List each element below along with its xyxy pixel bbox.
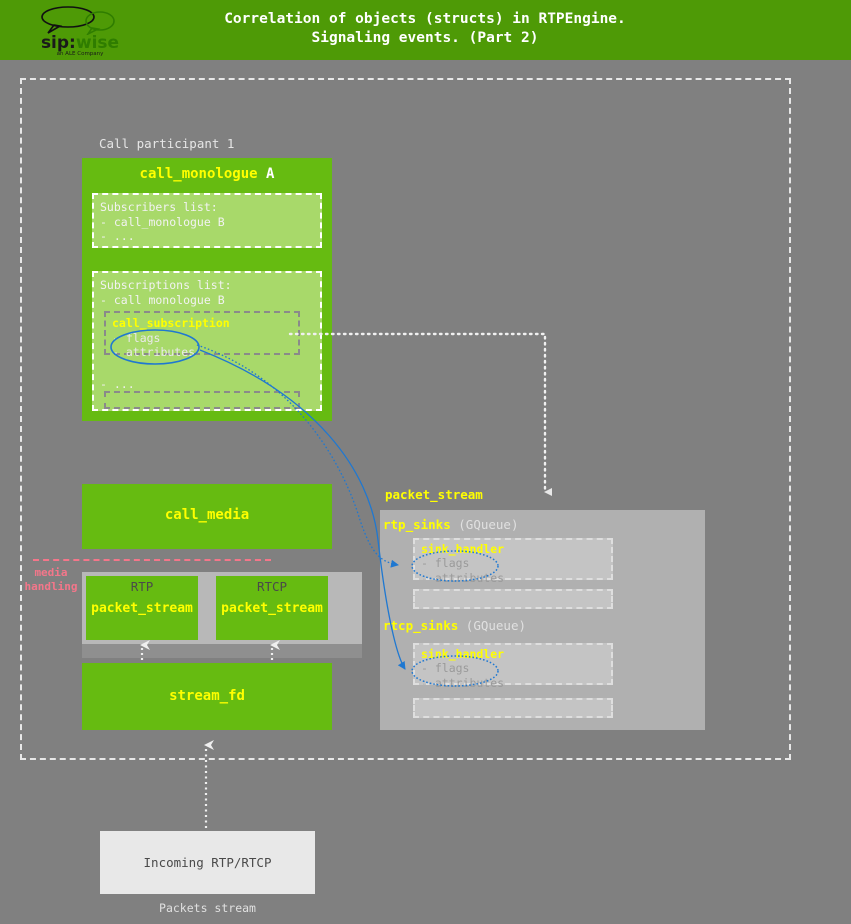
stream-fd-box: stream_fd xyxy=(82,663,332,730)
title-line-2: Signaling events. (Part 2) xyxy=(160,29,690,48)
call-monologue-letter: A xyxy=(266,166,274,182)
rtp-sinks-empty-slot xyxy=(413,589,613,609)
rtcp-sinks-type: (GQueue) xyxy=(466,618,526,633)
rtcp-sinks-label: rtcp_sinks (GQueue) xyxy=(383,618,526,633)
packet-stream-panel: rtp_sinks (GQueue) sink_handler - flags … xyxy=(380,510,705,730)
rtp-sink-handler-name: sink_handler xyxy=(421,542,605,556)
logo-tagline: an ALE Company xyxy=(30,51,130,57)
call-monologue-struct-name: call_monologue xyxy=(140,166,258,182)
rtp-sinks-name: rtp_sinks xyxy=(383,517,451,532)
rtp-sink-handler-box: sink_handler - flags - attributes xyxy=(413,538,613,580)
subscribers-list-box: Subscribers list: - call_monologue B - .… xyxy=(92,193,322,248)
rtp-struct-label: packet_stream xyxy=(86,601,198,616)
rtcp-sinks-name: rtcp_sinks xyxy=(383,618,458,633)
call-subscription-field-attributes: - attributes xyxy=(112,345,292,360)
incoming-packets-label: Incoming RTP/RTCP xyxy=(100,855,315,870)
rtp-sinks-label: rtp_sinks (GQueue) xyxy=(383,517,518,532)
packets-stream-caption: Packets stream xyxy=(100,901,315,915)
rtp-sinks-type: (GQueue) xyxy=(458,517,518,532)
rtcp-sink-handler-field-flags: - flags xyxy=(421,661,605,676)
subscriptions-list-box: Subscriptions list: - call monologue B c… xyxy=(92,271,322,411)
title-line-1: Correlation of objects (structs) in RTPE… xyxy=(160,10,690,29)
subscribers-list-item-1: - ... xyxy=(100,229,314,244)
rtp-sink-handler-field-flags: - flags xyxy=(421,556,605,571)
media-handling-label-line1: media xyxy=(22,566,80,580)
page-header: sip:wise an ALE Company Correlation of o… xyxy=(0,0,851,60)
rtcp-sink-handler-field-attributes: - attributes xyxy=(421,676,605,691)
media-handling-divider xyxy=(33,559,271,561)
rtcp-kind-label: RTCP xyxy=(216,579,328,594)
call-monologue-title: call_monologue A xyxy=(82,166,332,182)
rtp-sink-handler-field-attributes: - attributes xyxy=(421,571,605,586)
logo-sip-text: sip: xyxy=(41,33,76,53)
rtcp-packet-stream-box: RTCP packet_stream xyxy=(216,576,328,640)
stream-connector-band xyxy=(82,644,362,658)
media-handling-label-line2: handling xyxy=(22,580,80,594)
incoming-packets-box: Incoming RTP/RTCP xyxy=(100,831,315,894)
call-subscription-field-flags: - flags xyxy=(112,331,292,346)
packet-stream-panel-label: packet_stream xyxy=(385,487,483,502)
call-media-label: call_media xyxy=(82,507,332,523)
subscribers-list-heading: Subscribers list: xyxy=(100,200,314,215)
rtcp-sink-handler-name: sink_handler xyxy=(421,647,605,661)
rtp-kind-label: RTP xyxy=(86,579,198,594)
call-subscription-box: call_subscription - flags - attributes xyxy=(104,311,300,355)
rtcp-sink-handler-box: sink_handler - flags - attributes xyxy=(413,643,613,685)
rtcp-struct-label: packet_stream xyxy=(216,601,328,616)
call-media-box: call_media xyxy=(82,484,332,549)
rtcp-sinks-empty-slot xyxy=(413,698,613,718)
speech-bubbles-icon xyxy=(30,5,130,35)
call-subscription-name: call_subscription xyxy=(112,316,292,331)
subscribers-list-item-0: - call_monologue B xyxy=(100,215,314,230)
media-handling-label: media handling xyxy=(22,566,80,594)
stream-fd-label: stream_fd xyxy=(82,688,332,704)
call-participant-label: Call participant 1 xyxy=(99,136,234,151)
page-title: Correlation of objects (structs) in RTPE… xyxy=(160,10,690,48)
rtp-packet-stream-box: RTP packet_stream xyxy=(86,576,198,640)
logo-wise-text: wise xyxy=(76,33,119,53)
subscriptions-list-heading: Subscriptions list: xyxy=(100,278,314,293)
subscriptions-empty-slot xyxy=(104,391,300,409)
subscriptions-list-item: - call monologue B xyxy=(100,293,314,308)
subscriptions-ellipsis: - ... xyxy=(100,377,135,392)
sipwise-logo: sip:wise an ALE Company xyxy=(30,5,130,57)
logo-wordmark: sip:wise xyxy=(30,33,130,53)
